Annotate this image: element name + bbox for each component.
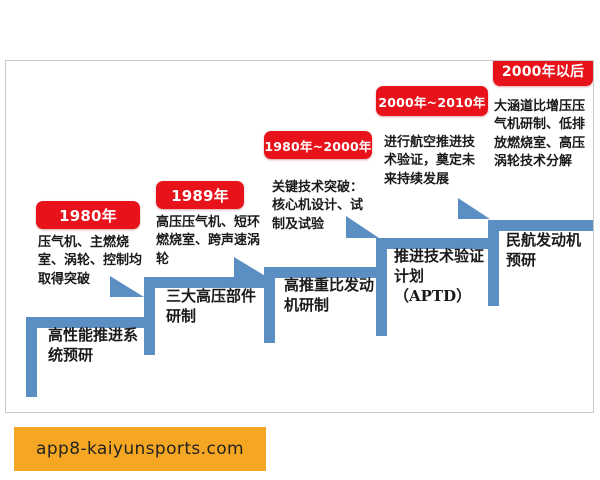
step-5-date-label: 2000年以后 bbox=[502, 61, 584, 81]
step-5-bracket-riser bbox=[488, 220, 499, 306]
timeline-step-2[interactable]: 1989年 高压压气机、短环燃烧室、跨声速涡轮 三大高压部件研制 bbox=[144, 181, 269, 376]
step-connector-arrow-4 bbox=[458, 198, 490, 219]
timeline-step-4[interactable]: 2000年~2010年 进行航空推进技术验证，奠定未来持续发展 推进技术验证计划… bbox=[376, 86, 494, 376]
step-3-label: 高推重比发动机研制 bbox=[284, 275, 378, 315]
step-3-date-label: 1980年~2000年 bbox=[264, 136, 371, 155]
step-1-date-label: 1980年 bbox=[59, 205, 117, 226]
watermark-banner: app8-kaiyunsports.com bbox=[14, 427, 266, 471]
step-4-date-badge: 2000年~2010年 bbox=[376, 86, 488, 116]
step-2-label: 三大高压部件研制 bbox=[166, 286, 264, 326]
step-2-date-badge: 1989年 bbox=[156, 181, 244, 209]
step-4-bracket-riser bbox=[376, 238, 387, 336]
step-connector-arrow-1 bbox=[110, 276, 144, 297]
diagram-canvas: 1980年 压气机、主燃烧室、涡轮、控制均取得突破 高性能推进系统预研 1989… bbox=[5, 60, 594, 413]
watermark-text: app8-kaiyunsports.com bbox=[36, 439, 244, 459]
step-2-bracket-riser bbox=[144, 277, 155, 355]
step-1-label: 高性能推进系统预研 bbox=[48, 325, 140, 365]
step-3-date-badge: 1980年~2000年 bbox=[264, 131, 372, 159]
step-4-date-label: 2000年~2010年 bbox=[378, 92, 485, 111]
step-1-bracket-riser bbox=[26, 317, 37, 397]
step-5-label: 民航发动机预研 bbox=[506, 230, 594, 270]
step-4-label: 推进技术验证计划（APTD） bbox=[394, 246, 490, 306]
step-connector-arrow-2 bbox=[234, 257, 267, 277]
step-5-description: 大涵道比增压压气机研制、低排放燃烧室、高压涡轮技术分解 bbox=[494, 98, 592, 172]
timeline-step-5[interactable]: 2000年以后 大涵道比增压压气机研制、低排放燃烧室、高压涡轮技术分解 民航发动… bbox=[488, 60, 594, 376]
step-4-description: 进行航空推进技术验证，奠定未来持续发展 bbox=[384, 134, 484, 189]
step-5-date-badge: 2000年以后 bbox=[493, 60, 593, 86]
timeline-step-1[interactable]: 1980年 压气机、主燃烧室、涡轮、控制均取得突破 高性能推进系统预研 bbox=[26, 201, 146, 413]
step-1-date-badge: 1980年 bbox=[36, 201, 140, 229]
step-2-date-label: 1989年 bbox=[171, 185, 229, 206]
timeline-step-3[interactable]: 1980年~2000年 关键技术突破：核心机设计、试制及试验 高推重比发动机研制 bbox=[264, 131, 382, 379]
step-connector-arrow-3 bbox=[346, 216, 379, 238]
step-3-bracket-riser bbox=[264, 267, 275, 343]
